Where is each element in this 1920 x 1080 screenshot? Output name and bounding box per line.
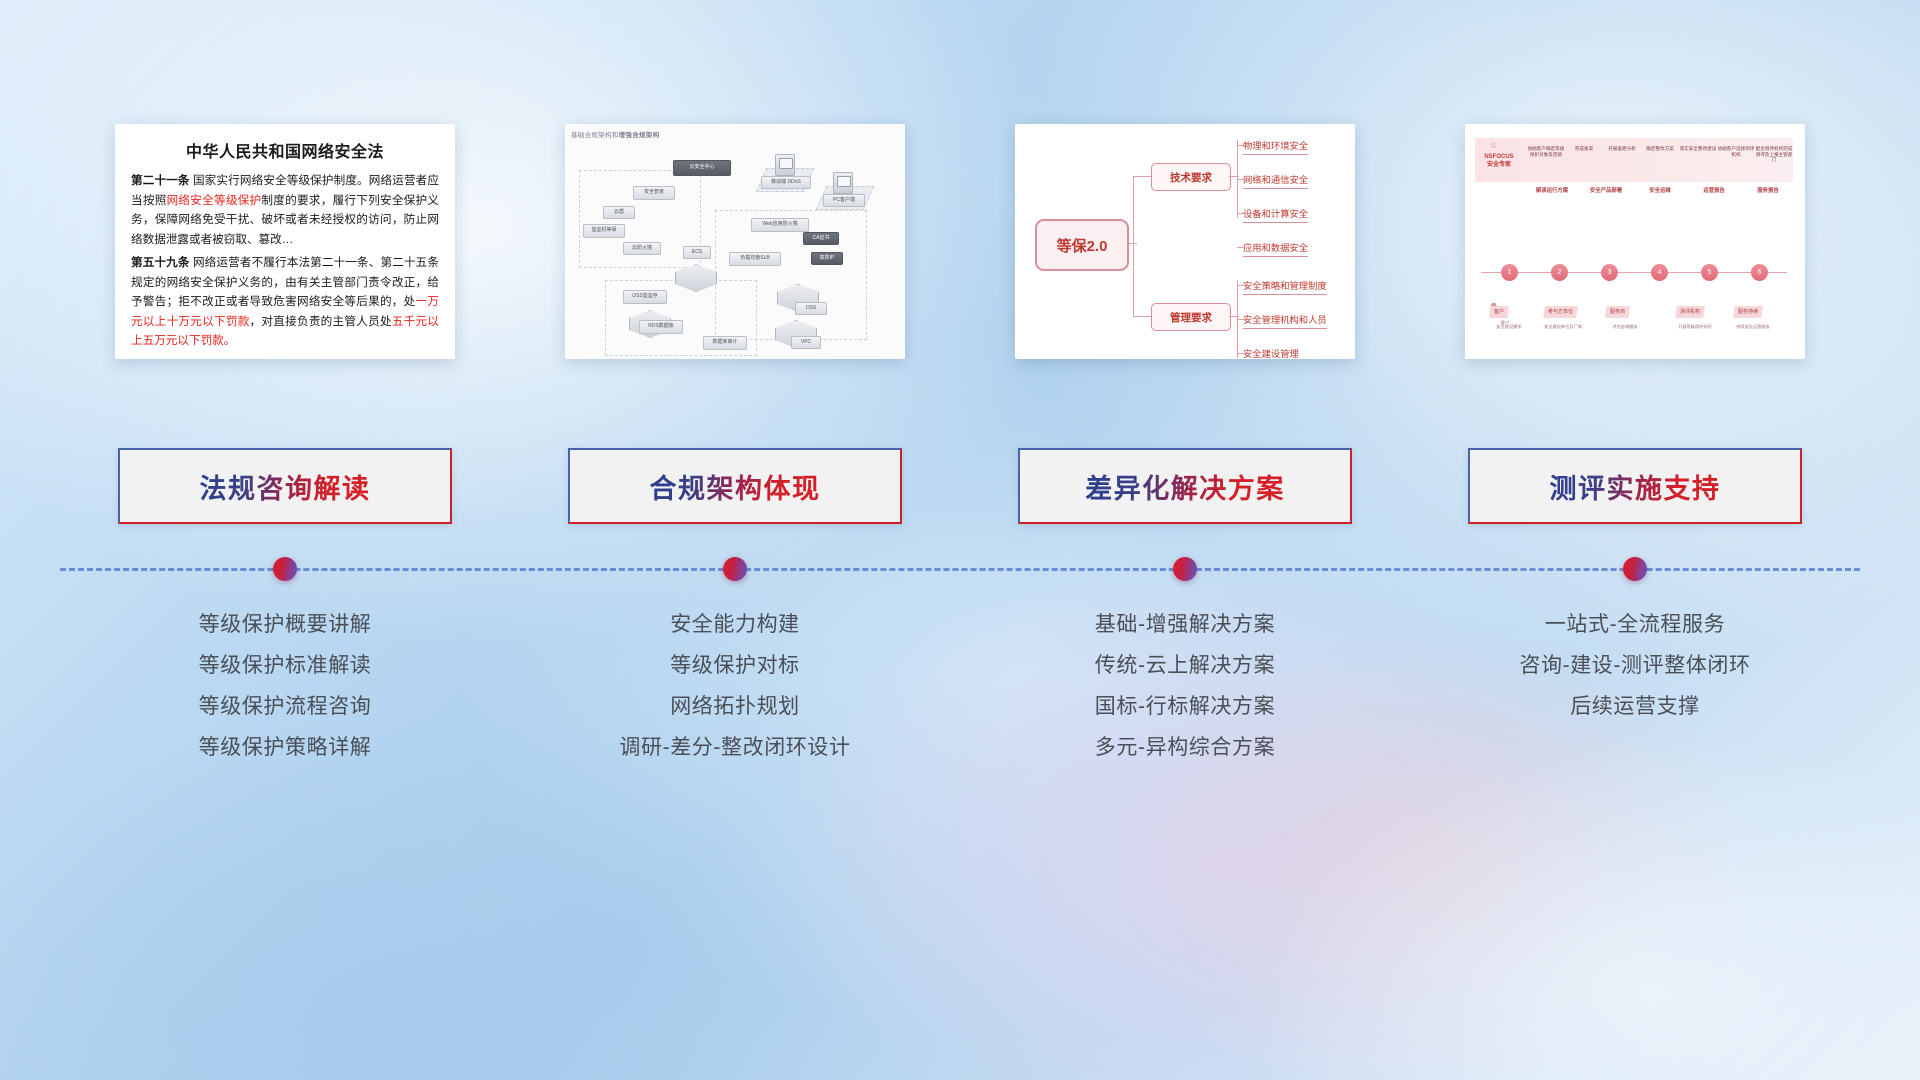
- pillar-item: 安全能力构建: [510, 604, 960, 645]
- pillar-item: 等级保护概要讲解: [60, 604, 510, 645]
- nsfocus-top-label: 完成备案: [1565, 146, 1603, 152]
- law-paragraph-2: 第五十九条 网络运营者不履行本法第二十一条、第二十五条规定的网络安全保护义务的，…: [131, 253, 439, 351]
- pillar-item: 等级保护策略详解: [60, 727, 510, 768]
- architecture-node: 云防火墙: [623, 242, 661, 255]
- timeline-dot-compliance-architecture[interactable]: [723, 557, 747, 581]
- thumbnail-compliance-architecture[interactable]: 基础合规架构和增强合规架构 云安全中心安全管家云盾堡垒机等保云防火墙Web应用防…: [565, 124, 905, 359]
- nsfocus-bottom-tag-sub: 评估咨询服务: [1599, 324, 1651, 330]
- nsfocus-diagram: ☺ NSFOCUS 安全专家 协助客户确定等级保护对象及定级完成备案开展差距分析…: [1465, 124, 1805, 359]
- mindmap-spine: [1133, 176, 1134, 316]
- mindmap-branch-connector: [1133, 316, 1151, 317]
- mindmap-leaf: 安全建设管理: [1243, 346, 1299, 359]
- pillar-detail-cell-2: 安全能力构建等级保护对标网络拓扑规划调研-差分-整改闭环设计: [510, 604, 960, 768]
- timeline-dot-regulation-consulting[interactable]: [273, 557, 297, 581]
- nsfocus-bottom-tag: 服务持续: [1733, 306, 1763, 318]
- pillar-headline-label: 差异化解决方案: [1085, 467, 1285, 506]
- architecture-node: Web应用防火墙: [751, 218, 809, 232]
- thumbnail-cell-3: 等保2.0 技术要求 管理要求 物理和环境安全网络和通信安全设备和计算安全应用和…: [960, 124, 1410, 359]
- pillar-headline-regulation-consulting[interactable]: 法规咨询解读: [118, 448, 452, 524]
- architecture-node: CA证书: [803, 232, 839, 245]
- pillar-detail-row: 等级保护概要讲解等级保护标准解读等级保护流程咨询等级保护策略详解 安全能力构建等…: [60, 604, 1860, 768]
- architecture-node: 云盾: [603, 206, 635, 219]
- mindmap-leaf-connector: [1237, 285, 1245, 286]
- pillar-item: 后续运营支撑: [1410, 686, 1860, 727]
- nsfocus-bottom-tag-sub: 安全建设单位及厂商: [1537, 324, 1589, 330]
- nsfocus-top-label: 落实安全整改建设: [1679, 146, 1717, 152]
- pillar-head-cell-3: 差异化解决方案: [960, 448, 1410, 524]
- mindmap-branch-management: 管理要求: [1151, 303, 1231, 331]
- nsfocus-logo-line2: 安全专家: [1479, 162, 1519, 170]
- timeline-dot-cell-3: [960, 557, 1410, 581]
- law-document: 中华人民共和国网络安全法 第二十一条 国家实行网络安全等级保护制度。网络运营者应…: [115, 124, 455, 351]
- pillar-detail-cell-1: 等级保护概要讲解等级保护标准解读等级保护流程咨询等级保护策略详解: [60, 604, 510, 768]
- timeline-dot-cell-4: [1410, 557, 1860, 581]
- architecture-node: PC客户端: [823, 194, 865, 207]
- architecture-node: 负载均衡SLB: [729, 252, 781, 266]
- thumbnail-nsfocus-timeline[interactable]: ☺ NSFOCUS 安全专家 协助客户确定等级保护对象及定级完成备案开展差距分析…: [1465, 124, 1805, 359]
- law-article-number: 第二十一条: [131, 174, 190, 187]
- pillar-item-list-regulation-consulting: 等级保护概要讲解等级保护标准解读等级保护流程咨询等级保护策略详解: [60, 604, 510, 768]
- mindmap-leaf: 安全管理机构和人员: [1243, 312, 1327, 329]
- timeline-dot-cell-2: [510, 557, 960, 581]
- timeline-dot-evaluation-support[interactable]: [1623, 557, 1647, 581]
- pillar-item: 调研-差分-整改闭环设计: [510, 727, 960, 768]
- pillar-headline-label: 合规架构体现: [650, 467, 821, 506]
- thumbnail-cybersecurity-law[interactable]: 中华人民共和国网络安全法 第二十一条 国家实行网络安全等级保护制度。网络运营者应…: [115, 124, 455, 359]
- nsfocus-stage-label: 安全产品部署: [1579, 186, 1633, 194]
- mindmap-leaf: 网络和通信安全: [1243, 172, 1308, 189]
- pillar-headline-differentiated-solution[interactable]: 差异化解决方案: [1018, 448, 1352, 524]
- nsfocus-step-node: 1: [1501, 264, 1518, 281]
- mindmap-leaf-connector: [1229, 176, 1239, 177]
- mindmap-leaf-connector: [1237, 247, 1245, 248]
- timeline-dot-differentiated-solution[interactable]: [1173, 557, 1197, 581]
- thumbnail-mlps-mindmap[interactable]: 等保2.0 技术要求 管理要求 物理和环境安全网络和通信安全设备和计算安全应用和…: [1015, 124, 1355, 359]
- architecture-node: VPC: [791, 336, 821, 349]
- mindmap-leaf: 设备和计算安全: [1243, 206, 1308, 223]
- architecture-node: 移动端 DDoS: [761, 176, 811, 189]
- pillar-item: 多元-异构综合方案: [960, 727, 1410, 768]
- mindmap-branch-technical: 技术要求: [1151, 163, 1231, 191]
- nsfocus-bottom-tag: 客户: [1489, 306, 1509, 318]
- mindmap-leaf: 物理和环境安全: [1243, 138, 1308, 155]
- nsfocus-step-node: 4: [1651, 264, 1668, 281]
- pillar-head-cell-1: 法规咨询解读: [60, 448, 510, 524]
- nsfocus-step-node: 5: [1701, 264, 1718, 281]
- architecture-node: OSS: [795, 302, 827, 315]
- mindmap: 等保2.0 技术要求 管理要求 物理和环境安全网络和通信安全设备和计算安全应用和…: [1015, 124, 1355, 359]
- law-article-number: 第五十九条: [131, 256, 190, 269]
- nsfocus-bottom-tag: 参与方单位: [1543, 306, 1578, 318]
- pillar-headline-row: 法规咨询解读 合规架构体现 差异化解决方案 测评实施支持: [60, 448, 1860, 524]
- mindmap-leaf: 应用和数据安全: [1243, 240, 1308, 257]
- pillar-detail-cell-4: 一站式-全流程服务咨询-建设-测评整体闭环后续运营支撑: [1410, 604, 1860, 768]
- pillar-item: 等级保护流程咨询: [60, 686, 510, 727]
- mindmap-leaf-connector: [1237, 179, 1245, 180]
- architecture-node: 堡垒机等保: [583, 224, 625, 238]
- nsfocus-axis: [1481, 272, 1787, 273]
- pillar-headline-label: 法规咨询解读: [200, 467, 371, 506]
- architecture-node: OSS堡垒存: [623, 290, 667, 304]
- pillar-item: 等级保护标准解读: [60, 645, 510, 686]
- architecture-node: 安全管家: [633, 186, 675, 200]
- nsfocus-logo: NSFOCUS 安全专家: [1479, 154, 1519, 169]
- nsfocus-top-label: 协助客户选择测评机构: [1717, 146, 1755, 157]
- architecture-node: RDS数据库: [639, 320, 683, 334]
- architecture-server-icon: [833, 172, 853, 194]
- nsfocus-stage-label: 服务报告: [1741, 186, 1795, 194]
- timeline-dot-row: [60, 557, 1860, 581]
- pillar-detail-cell-3: 基础-增强解决方案传统-云上解决方案国标-行标解决方案多元-异构综合方案: [960, 604, 1410, 768]
- nsfocus-bottom-tag-sub: 安全建设需求: [1483, 324, 1535, 330]
- architecture-diagram: 基础合规架构和增强合规架构 云安全中心安全管家云盾堡垒机等保云防火墙Web应用防…: [565, 124, 905, 359]
- nsfocus-top-band: [1475, 138, 1793, 182]
- law-paragraph-1: 第二十一条 国家实行网络安全等级保护制度。网络运营者应当按照网络安全等级保护制度…: [131, 171, 439, 249]
- thumbnail-row: 中华人民共和国网络安全法 第二十一条 国家实行网络安全等级保护制度。网络运营者应…: [60, 124, 1860, 359]
- pillar-item-list-compliance-architecture: 安全能力构建等级保护对标网络拓扑规划调研-差分-整改闭环设计: [510, 604, 960, 768]
- mindmap-leaf-connector: [1237, 213, 1245, 214]
- thumbnail-cell-4: ☺ NSFOCUS 安全专家 协助客户确定等级保护对象及定级完成备案开展差距分析…: [1410, 124, 1860, 359]
- nsfocus-top-label: 确定整改方案: [1641, 146, 1679, 152]
- architecture-server-icon: [775, 154, 795, 176]
- architecture-header-plain: 基础合规架构和: [571, 132, 619, 139]
- thumbnail-cell-2: 基础合规架构和增强合规架构 云安全中心安全管家云盾堡垒机等保云防火墙Web应用防…: [510, 124, 960, 359]
- pillar-item: 网络拓扑规划: [510, 686, 960, 727]
- pillar-item: 基础-增强解决方案: [960, 604, 1410, 645]
- architecture-header: 基础合规架构和增强合规架构: [571, 129, 659, 139]
- nsfocus-bottom-tag-sub: 开展等级保护测评: [1669, 324, 1721, 330]
- nsfocus-step-node: 3: [1601, 264, 1618, 281]
- mindmap-leaf-connector: [1237, 145, 1245, 146]
- mindmap-leaf-connector: [1237, 319, 1245, 320]
- nsfocus-step-node: 6: [1751, 264, 1768, 281]
- nsfocus-stage-label: 运营报告: [1687, 186, 1741, 194]
- architecture-node: 高防IP: [811, 252, 843, 265]
- architecture-node: 云安全中心: [673, 160, 731, 176]
- expert-avatar-icon: ☺: [1489, 140, 1498, 150]
- thumbnail-cell-1: 中华人民共和国网络安全法 第二十一条 国家实行网络安全等级保护制度。网络运营者应…: [60, 124, 510, 359]
- architecture-header-bold: 增强合规架构: [619, 132, 660, 139]
- nsfocus-top-label: 配合测评机构完成测评及上报主管部门: [1755, 146, 1793, 163]
- pillar-item-list-evaluation-support: 一站式-全流程服务咨询-建设-测评整体闭环后续运营支撑: [1410, 604, 1860, 727]
- pillar-head-cell-4: 测评实施支持: [1410, 448, 1860, 524]
- nsfocus-bottom-tag-sub: 持续安全运营服务: [1727, 324, 1779, 330]
- pillar-item: 等级保护对标: [510, 645, 960, 686]
- law-title: 中华人民共和国网络安全法: [131, 138, 439, 162]
- timeline-dot-cell-1: [60, 557, 510, 581]
- pillar-item: 咨询-建设-测评整体闭环: [1410, 645, 1860, 686]
- pillar-item: 传统-云上解决方案: [960, 645, 1410, 686]
- pillar-headline-label: 测评实施支持: [1550, 467, 1721, 506]
- timeline: [60, 568, 1860, 570]
- pillar-item: 一站式-全流程服务: [1410, 604, 1860, 645]
- nsfocus-bottom-tag: 服务商: [1605, 306, 1630, 318]
- nsfocus-stage-label: 安全运维: [1633, 186, 1687, 194]
- pillar-headline-compliance-architecture[interactable]: 合规架构体现: [568, 448, 902, 524]
- nsfocus-top-label: 开展差距分析: [1603, 146, 1641, 152]
- mindmap-leaf: 安全策略和管理制度: [1243, 278, 1327, 295]
- pillar-head-cell-2: 合规架构体现: [510, 448, 960, 524]
- mindmap-branch-connector: [1133, 176, 1151, 177]
- nsfocus-top-label: 协助客户确定等级保护对象及定级: [1527, 146, 1565, 157]
- pillar-item-list-differentiated-solution: 基础-增强解决方案传统-云上解决方案国标-行标解决方案多元-异构综合方案: [960, 604, 1410, 768]
- law-run: ，对直接负责的主管人员处: [250, 315, 392, 328]
- nsfocus-bottom-tag: 测评机构: [1675, 306, 1705, 318]
- architecture-node: 数据库审计: [703, 336, 747, 350]
- nsfocus-logo-line1: NSFOCUS: [1479, 154, 1519, 162]
- nsfocus-stage-label: 解读运行方案: [1525, 186, 1579, 194]
- nsfocus-step-node: 2: [1551, 264, 1568, 281]
- mindmap-root: 等保2.0: [1035, 219, 1129, 271]
- pillar-headline-evaluation-support[interactable]: 测评实施支持: [1468, 448, 1802, 524]
- pillar-item: 国标-行标解决方案: [960, 686, 1410, 727]
- law-run-highlight: 网络安全等级保护: [167, 194, 262, 207]
- architecture-node: ECS: [683, 246, 711, 259]
- mindmap-leaf-connector: [1229, 316, 1239, 317]
- mindmap-leaf-connector: [1237, 353, 1245, 354]
